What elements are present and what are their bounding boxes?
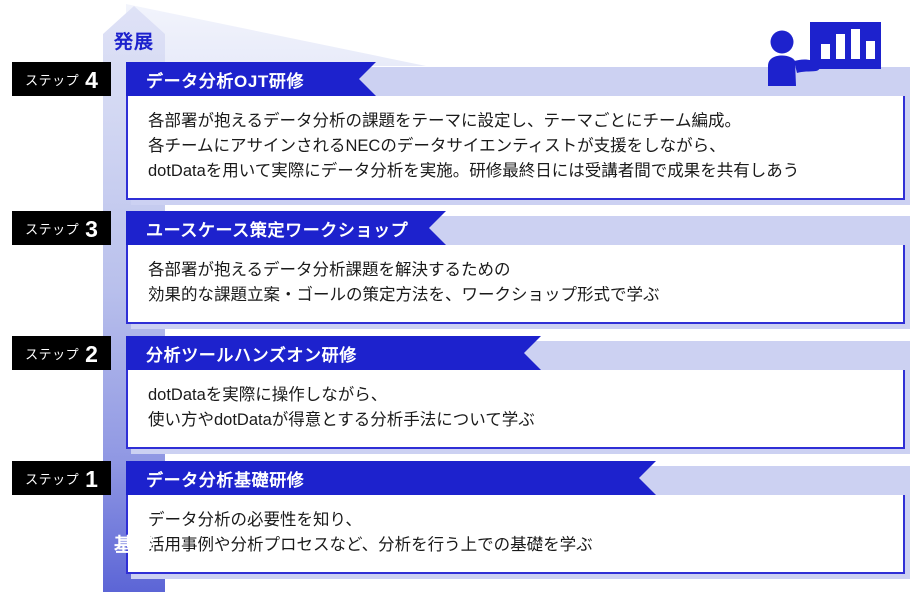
step-chip-number: 1 [85, 468, 98, 491]
axis-bottom-label: 基礎 [103, 530, 165, 557]
step-body-4: 各部署が抱えるデータ分析の課題をテーマに設定し、テーマごとにチーム編成。 各チー… [126, 96, 905, 200]
body-line: データ分析の必要性を知り、 [148, 508, 883, 533]
chart-bar-1-icon [821, 44, 830, 59]
step-chip-2[interactable]: ステップ 2 [12, 336, 111, 370]
body-line: 効果的な課題立案・ゴールの策定方法を、ワークショップ形式で学ぶ [148, 283, 883, 308]
presenter-body-icon [768, 56, 796, 87]
step-card-3: ユースケース策定ワークショップ 各部署が抱えるデータ分析課題を解決するための 効… [126, 211, 905, 324]
step-title-2: 分析ツールハンズオン研修 [126, 341, 357, 366]
body-line: dotDataを実際に操作しながら、 [148, 383, 883, 408]
step-title-1: データ分析基礎研修 [126, 466, 304, 491]
step-body-2: dotDataを実際に操作しながら、 使い方やdotDataが得意とする分析手法… [126, 370, 905, 449]
step-card-2: 分析ツールハンズオン研修 dotDataを実際に操作しながら、 使い方やdotD… [126, 336, 905, 449]
step-chip-3[interactable]: ステップ 3 [12, 211, 111, 245]
chart-bar-4-icon [866, 41, 875, 59]
step-chip-4[interactable]: ステップ 4 [12, 62, 111, 96]
chart-bar-3-icon [851, 29, 860, 59]
body-line: 各部署が抱えるデータ分析の課題をテーマに設定し、テーマごとにチーム編成。 [148, 109, 883, 134]
step-card-1: データ分析基礎研修 データ分析の必要性を知り、 活用事例や分析プロセスなど、分析… [126, 461, 905, 574]
presenter-with-bar-chart-icon [763, 20, 883, 86]
step-chip-word: ステップ [25, 70, 79, 89]
chart-bar-2-icon [836, 34, 845, 59]
step-chip-number: 3 [85, 218, 98, 241]
body-line: 各チームにアサインされるNECのデータサイエンティストが支援をしながら、 [148, 134, 883, 159]
step-chip-number: 4 [85, 69, 98, 92]
step-chip-word: ステップ [25, 469, 79, 488]
body-line: 使い方やdotDataが得意とする分析手法について学ぶ [148, 408, 883, 433]
step-chip-number: 2 [85, 343, 98, 366]
step-body-1: データ分析の必要性を知り、 活用事例や分析プロセスなど、分析を行う上での基礎を学… [126, 495, 905, 574]
axis-top-label: 発展 [103, 27, 165, 54]
step-chip-word: ステップ [25, 344, 79, 363]
step-title-3: ユースケース策定ワークショップ [126, 216, 408, 241]
body-line: 活用事例や分析プロセスなど、分析を行う上での基礎を学ぶ [148, 533, 883, 558]
step-header-3[interactable]: ユースケース策定ワークショップ [126, 211, 905, 245]
step-body-3: 各部署が抱えるデータ分析課題を解決するための 効果的な課題立案・ゴールの策定方法… [126, 245, 905, 324]
body-line: dotDataを用いて実際にデータ分析を実施。研修最終日には受講者間で成果を共有… [148, 159, 883, 184]
body-line: 各部署が抱えるデータ分析課題を解決するための [148, 258, 883, 283]
backdrop-triangle-decoration [126, 4, 426, 66]
step-title-4: データ分析OJT研修 [126, 67, 304, 92]
presenter-head-icon [771, 31, 794, 54]
step-chip-word: ステップ [25, 219, 79, 238]
step-header-1[interactable]: データ分析基礎研修 [126, 461, 905, 495]
step-chip-1[interactable]: ステップ 1 [12, 461, 111, 495]
step-header-2[interactable]: 分析ツールハンズオン研修 [126, 336, 905, 370]
